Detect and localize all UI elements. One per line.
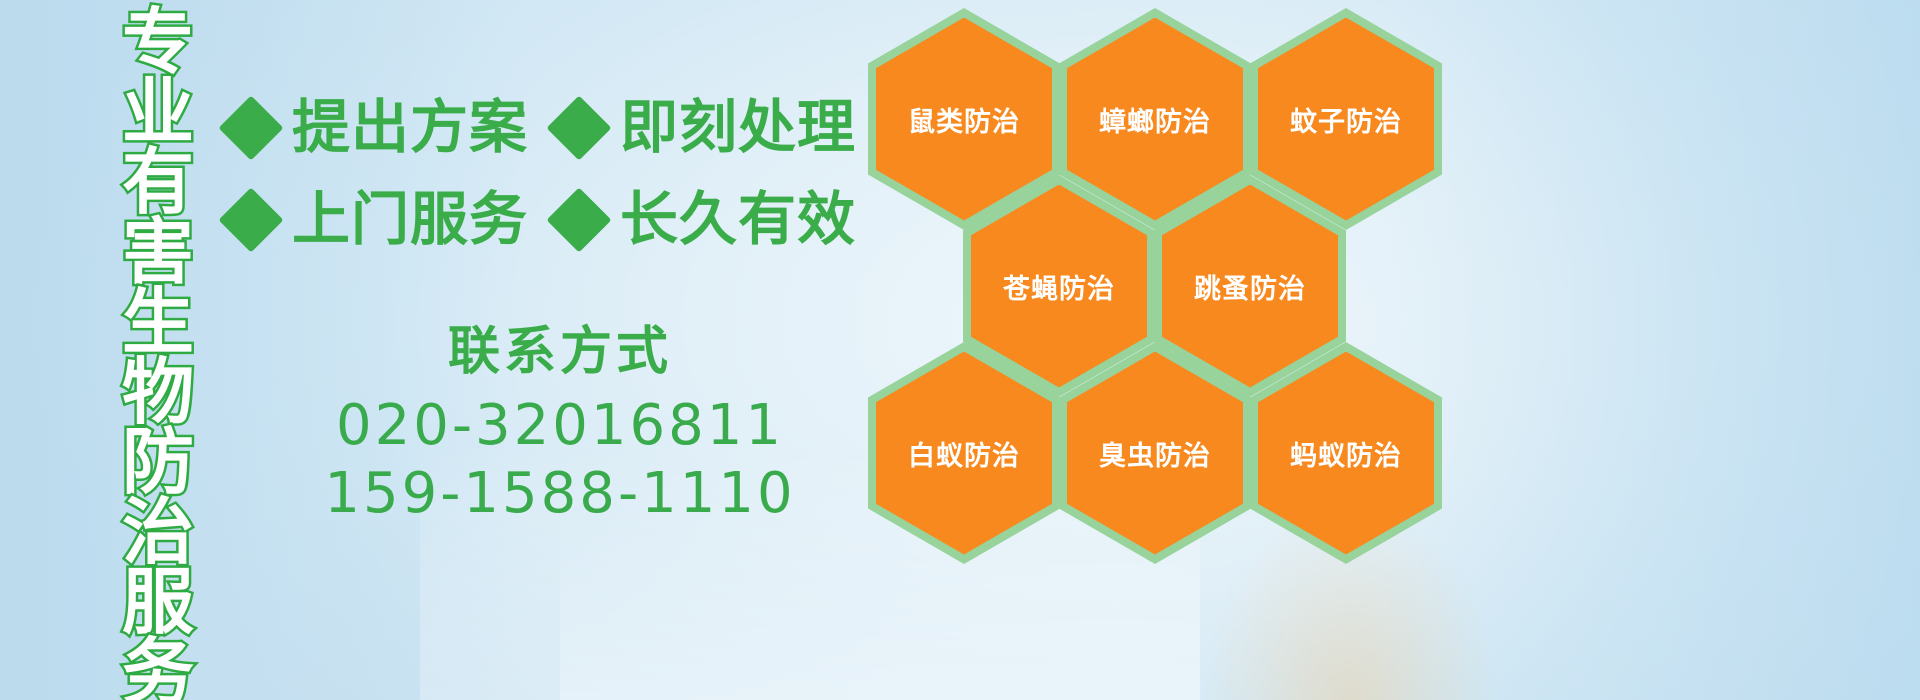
service-hex-label: 跳蚤防治 [1194, 267, 1306, 306]
slogan-item: 即刻处理 [556, 99, 856, 157]
slogan-item: 上门服务 [228, 191, 528, 249]
service-hex-inner: 鼠类防治 [876, 18, 1052, 221]
vertical-headline-char: 有 [122, 148, 194, 218]
service-hex-inner: 苍蝇防治 [971, 185, 1147, 388]
vertical-headline: 专 业 有 害 生 物 防 治 服 务 [104, 8, 212, 568]
vertical-headline-char: 业 [122, 78, 194, 148]
vertical-headline-char: 专 [122, 8, 194, 78]
diamond-icon [546, 95, 611, 160]
service-hex-inner: 白蚁防治 [876, 352, 1052, 555]
vertical-headline-char: 治 [122, 498, 194, 568]
slogan-label: 上门服务 [292, 191, 528, 249]
slogan-label: 提出方案 [292, 99, 528, 157]
service-hex-label: 蚂蚁防治 [1290, 434, 1402, 473]
service-hex-label: 鼠类防治 [908, 100, 1020, 139]
service-hex-label: 苍蝇防治 [1003, 267, 1115, 306]
diamond-icon [218, 187, 283, 252]
service-hex-inner: 蟑螂防治 [1067, 18, 1243, 221]
background-streak-right [1380, 0, 1920, 700]
service-hex-inner: 蚊子防治 [1258, 18, 1434, 221]
diamond-icon [546, 187, 611, 252]
vertical-headline-char: 务 [122, 638, 194, 700]
slogan-label: 长久有效 [620, 191, 856, 249]
phone-number-landline[interactable]: 020-32016811 [300, 392, 820, 460]
phone-number-mobile[interactable]: 159-1588-1110 [300, 460, 820, 528]
vertical-headline-char: 防 [122, 428, 194, 498]
slogan-row: 提出方案 即刻处理 [228, 82, 868, 174]
vertical-headline-char: 害 [122, 218, 194, 288]
slogan-item: 长久有效 [556, 191, 856, 249]
vertical-headline-char: 物 [122, 358, 194, 428]
slogan-row: 上门服务 长久有效 [228, 174, 868, 266]
slogan-item: 提出方案 [228, 99, 528, 157]
service-hex-label: 蚊子防治 [1290, 100, 1402, 139]
contact-block: 联系方式 020-32016811 159-1588-1110 [300, 318, 820, 528]
service-hex-label: 白蚁防治 [908, 434, 1020, 473]
diamond-icon [218, 95, 283, 160]
service-hex-inner: 跳蚤防治 [1162, 185, 1338, 388]
contact-title: 联系方式 [300, 318, 820, 386]
service-honeycomb: 鼠类防治 蟑螂防治 蚊子防治 苍蝇防治 跳蚤防治 白蚁防治 [860, 0, 1460, 600]
service-hex-label: 蟑螂防治 [1099, 100, 1211, 139]
vertical-headline-char: 服 [122, 568, 194, 638]
service-hex-label: 臭虫防治 [1099, 434, 1211, 473]
service-hex-inner: 臭虫防治 [1067, 352, 1243, 555]
service-hex-inner: 蚂蚁防治 [1258, 352, 1434, 555]
slogan-label: 即刻处理 [620, 99, 856, 157]
vertical-headline-char: 生 [122, 288, 194, 358]
slogan-block: 提出方案 即刻处理 上门服务 长久有效 [228, 82, 868, 266]
promo-banner: 专 业 有 害 生 物 防 治 服 务 提出方案 即刻处理 上门服务 [0, 0, 1920, 700]
